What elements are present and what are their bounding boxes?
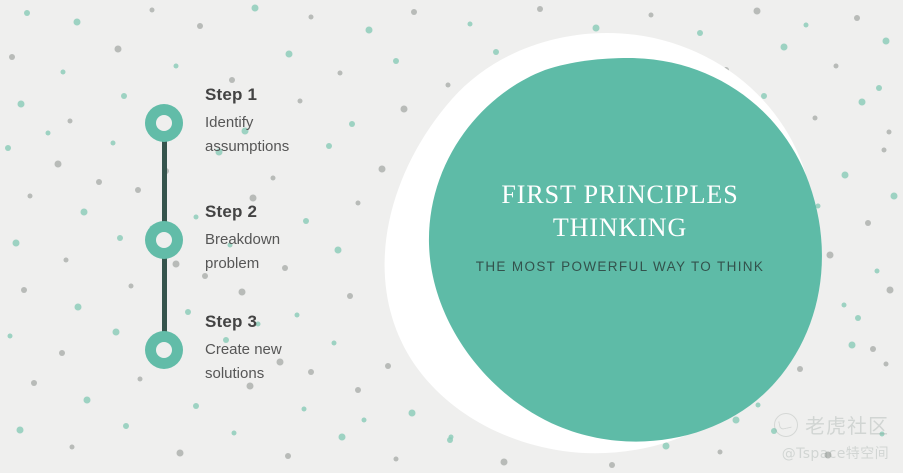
step-description: Create new solutions bbox=[205, 338, 282, 387]
step-title: Step 1 bbox=[205, 85, 289, 105]
step-item-3[interactable]: Step 3 Create new solutions bbox=[205, 312, 282, 387]
hero-title: FIRST PRINCIPLES THINKING bbox=[433, 178, 807, 244]
hero-subtitle: THE MOST POWERFUL WAY TO THINK bbox=[433, 259, 807, 274]
hero-text-block: FIRST PRINCIPLES THINKING THE MOST POWER… bbox=[433, 178, 807, 274]
step-description: Breakdown problem bbox=[205, 228, 280, 277]
step-marker-2[interactable] bbox=[145, 221, 183, 259]
step-description: Identify assumptions bbox=[205, 111, 289, 160]
step-title: Step 2 bbox=[205, 202, 280, 222]
step-item-2[interactable]: Step 2 Breakdown problem bbox=[205, 202, 280, 277]
step-item-1[interactable]: Step 1 Identify assumptions bbox=[205, 85, 289, 160]
step-title: Step 3 bbox=[205, 312, 282, 332]
step-marker-3[interactable] bbox=[145, 331, 183, 369]
slide-canvas: FIRST PRINCIPLES THINKING THE MOST POWER… bbox=[0, 0, 903, 473]
step-marker-1[interactable] bbox=[145, 104, 183, 142]
